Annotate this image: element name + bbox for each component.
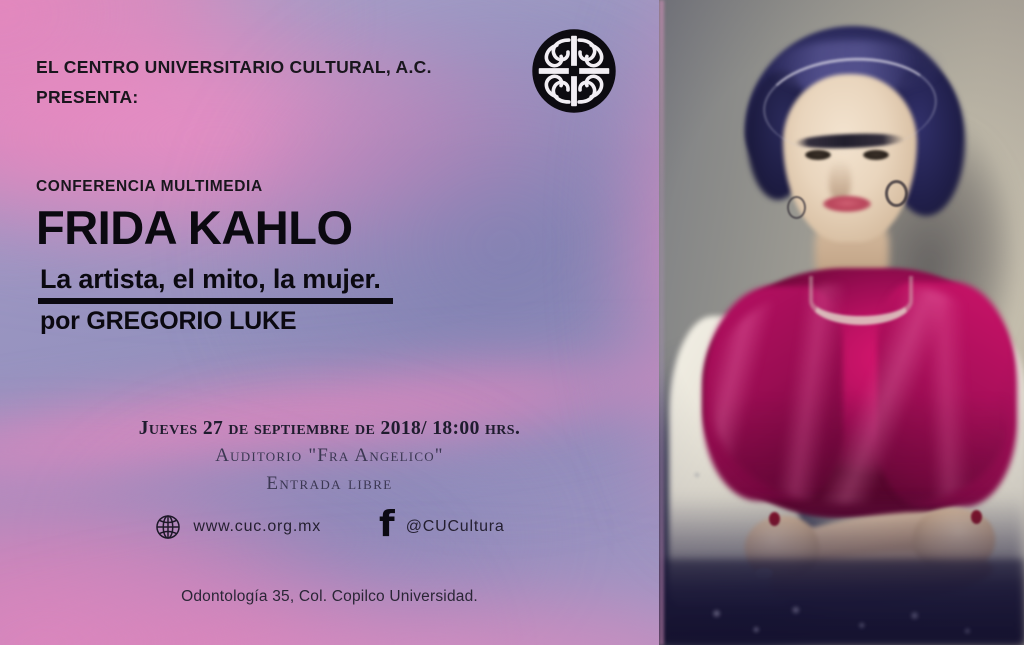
photo-left-edge-fringe <box>659 0 664 645</box>
poster: EL CENTRO UNIVERSITARIO CULTURAL, A.C. P… <box>0 0 1024 645</box>
photo-face <box>783 74 917 242</box>
photo-shawl-right-wing <box>877 282 1017 507</box>
photo-nail-right <box>971 510 982 524</box>
social-links-row: www.cuc.org.mx f @CUCultura <box>0 513 659 542</box>
subtitle: La artista, el mito, la mujer. <box>36 265 636 293</box>
photo-earring-left <box>787 196 806 219</box>
photo-lips <box>823 196 871 212</box>
event-date: Jueves 27 de septiembre de 2018/ 18:00 h… <box>0 416 659 442</box>
facebook-handle: @CUCultura <box>406 518 505 536</box>
website-url: www.cuc.org.mx <box>193 518 321 536</box>
speaker-byline: por GREGORIO LUKE <box>36 307 636 336</box>
photo-hand-left <box>739 509 825 587</box>
photo-vignette <box>659 0 1024 645</box>
venue-address: Odontología 35, Col. Copilco Universidad… <box>0 588 659 606</box>
event-type-kicker: CONFERENCIA MULTIMEDIA <box>36 178 636 196</box>
photo-hair-left-side <box>747 70 809 200</box>
photo-necklace <box>809 276 913 325</box>
photo-nail-left <box>769 512 780 526</box>
photo-cast-shadow <box>832 109 1024 461</box>
photo-skirt <box>659 559 1024 645</box>
globe-icon <box>154 513 182 541</box>
title-underline-rule <box>38 298 393 304</box>
event-venue: Auditorio "Fra Angelico" <box>0 442 659 470</box>
facebook-link[interactable]: f @CUCultura <box>379 513 505 542</box>
photo-backdrop-wall <box>659 0 1024 645</box>
photo-skirt-pattern <box>677 575 1007 645</box>
organization-header: EL CENTRO UNIVERSITARIO CULTURAL, A.C. P… <box>36 52 616 112</box>
photo-neck <box>815 212 889 292</box>
title-block: CONFERENCIA MULTIMEDIA FRIDA KAHLO La ar… <box>36 178 636 336</box>
event-details: Jueves 27 de septiembre de 2018/ 18:00 h… <box>0 416 659 498</box>
photo-braid-highlight <box>769 40 941 94</box>
photo-forearm-lower <box>767 542 995 613</box>
photo-earring-right <box>885 180 908 207</box>
photo-rebozo-shawl <box>703 268 1013 518</box>
cuc-emblem-icon <box>531 28 617 114</box>
page-title: FRIDA KAHLO <box>36 204 636 251</box>
photo-unibrow <box>795 132 905 150</box>
photo-eye-right <box>863 150 889 160</box>
photo-eye-left <box>805 150 831 160</box>
photo-bottom-dark-fade <box>659 495 1024 645</box>
poster-content: EL CENTRO UNIVERSITARIO CULTURAL, A.C. P… <box>0 0 659 645</box>
photo-hair-right-side <box>887 66 965 216</box>
presenta-label: PRESENTA: <box>36 82 616 112</box>
organization-name: EL CENTRO UNIVERSITARIO CULTURAL, A.C. <box>36 52 616 82</box>
photo-shawl-folds <box>713 284 1009 504</box>
photo-forearm-upper <box>752 500 993 588</box>
website-link[interactable]: www.cuc.org.mx <box>154 513 321 541</box>
photo-hair <box>745 26 961 196</box>
photo-lower-dark-mass <box>659 325 849 645</box>
photo-shawl-left-wing <box>703 286 843 501</box>
frida-kahlo-portrait-photo <box>659 0 1024 645</box>
photo-nose <box>829 160 851 202</box>
photo-blouse-right <box>907 330 1024 580</box>
photo-ring <box>755 568 773 579</box>
event-admission: Entrada libre <box>0 470 659 498</box>
photo-hand-right <box>910 504 998 576</box>
photo-blouse-left <box>669 316 799 606</box>
photo-beaded-headband <box>760 52 940 159</box>
poster-left-panel: EL CENTRO UNIVERSITARIO CULTURAL, A.C. P… <box>0 0 659 645</box>
photo-blouse-lace <box>669 330 1019 580</box>
facebook-icon: f <box>379 511 395 540</box>
